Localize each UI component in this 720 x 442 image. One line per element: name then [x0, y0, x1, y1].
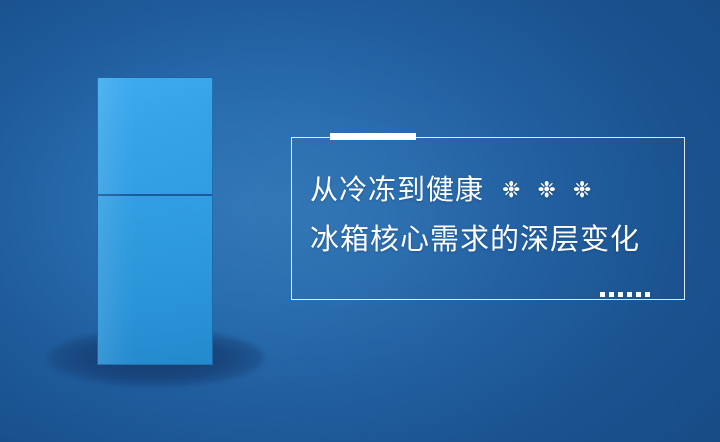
snowflake-icon: ❉: [537, 179, 556, 201]
dash-mark: [618, 292, 623, 297]
dash-mark: [645, 292, 650, 297]
snowflake-icon: ❉: [502, 179, 521, 201]
snowflake-icon: ❉: [573, 179, 592, 201]
dash-mark: [636, 292, 641, 297]
dash-mark: [609, 292, 614, 297]
fridge-door: [98, 196, 212, 364]
headline-line-2-row: 冰箱核心需求的深层变化: [310, 218, 690, 263]
frame-accent-bar: [330, 133, 416, 140]
dash-mark: [627, 292, 632, 297]
headline-line-1: 从冷冻到健康: [310, 168, 484, 211]
dash-mark: [600, 292, 605, 297]
refrigerator-body: [97, 77, 213, 365]
dashed-decoration: [600, 292, 650, 297]
refrigerator-illustration: [0, 0, 300, 442]
snowflake-group: ❉ ❉ ❉: [502, 179, 592, 201]
freezer-door: [98, 78, 212, 194]
headline-block: 从冷冻到健康 ❉ ❉ ❉ 冰箱核心需求的深层变化: [310, 168, 690, 263]
headline-line-2: 冰箱核心需求的深层变化: [310, 218, 640, 263]
headline-line-1-row: 从冷冻到健康 ❉ ❉ ❉: [310, 168, 690, 211]
poster-canvas: 从冷冻到健康 ❉ ❉ ❉ 冰箱核心需求的深层变化: [0, 0, 720, 442]
